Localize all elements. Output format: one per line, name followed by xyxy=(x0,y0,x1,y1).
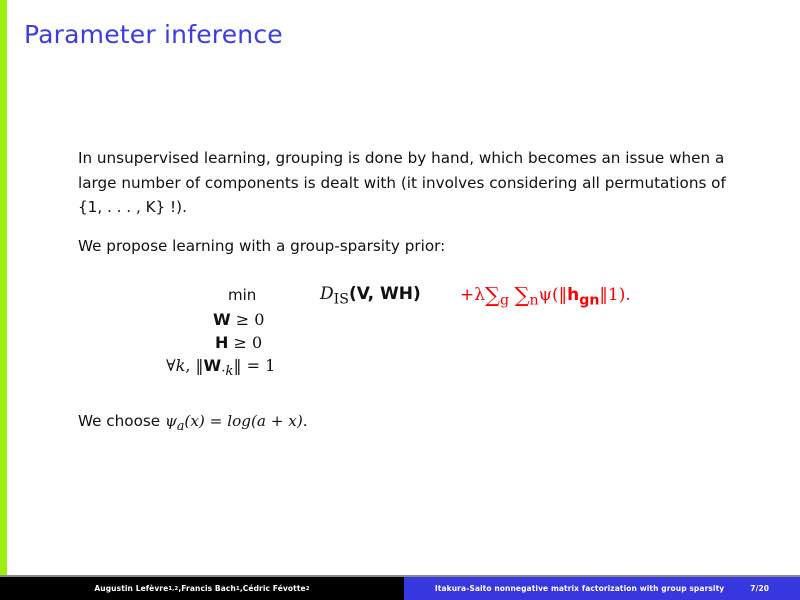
objective-subscript: IS xyxy=(334,291,349,307)
equation-constraint-norm: ∀k, ‖W·k‖ = 1 xyxy=(78,356,730,379)
penalty-sum-g-subscript: g xyxy=(500,292,509,308)
constraint-norm-tail: ‖ = 1 xyxy=(234,356,276,375)
footer-author-2: Francis Bach xyxy=(181,584,236,593)
penalty-sum-g: ∑ xyxy=(485,283,500,307)
constraint-index-k: k xyxy=(176,356,186,375)
body-paragraph-2: We propose learning with a group-sparsit… xyxy=(78,234,730,259)
equation-min-label: min xyxy=(228,286,256,304)
constraint-quantifier: ∀ xyxy=(166,356,176,375)
closing-sentence: We choose ψa(x) = log(a + x). xyxy=(78,412,308,433)
penalty-prefix: +λ xyxy=(460,285,485,305)
constraint-h-variable: H xyxy=(215,333,228,352)
penalty-sum-n: ∑ xyxy=(515,283,530,307)
constraint-w-relation: ≥ 0 xyxy=(236,310,265,329)
footer-author-3: Cédric Févotte xyxy=(243,584,306,593)
equation-penalty-term: +λ∑g ∑nψ(‖hgn‖1). xyxy=(460,283,631,308)
constraint-w-variable: W xyxy=(213,310,231,329)
body-paragraph-1: In unsupervised learning, grouping is do… xyxy=(78,146,730,220)
penalty-h-subscript: gn xyxy=(579,292,599,308)
footer-talk-title: Itakura-Saito nonnegative matrix factori… xyxy=(435,584,724,593)
footer-author-1: Augustin Lefèvre xyxy=(94,584,168,593)
equation-objective: DIS(V, WH) xyxy=(320,284,421,307)
closing-expression: (x) = log(a + x). xyxy=(184,412,307,430)
footer-bar: Augustin Lefèvre1,2, Francis Bach1, Cédr… xyxy=(0,577,800,600)
footer-info: Itakura-Saito nonnegative matrix factori… xyxy=(404,577,800,600)
constraint-h-relation: ≥ 0 xyxy=(233,333,262,352)
footer-author-3-affiliation: 2 xyxy=(306,586,310,592)
penalty-sum-n-subscript: n xyxy=(530,292,539,308)
footer-authors: Augustin Lefèvre1,2, Francis Bach1, Cédr… xyxy=(0,577,404,600)
page-title: Parameter inference xyxy=(24,20,283,49)
equation-block: min DIS(V, WH) +λ∑g ∑nψ(‖hgn‖1). W ≥ 0 H… xyxy=(78,284,730,379)
footer-author-1-affiliation: 1,2 xyxy=(168,586,178,592)
penalty-h-vector: h xyxy=(567,285,579,305)
objective-arguments: (V, WH) xyxy=(349,284,421,304)
footer-page-number: 7/20 xyxy=(750,584,769,593)
penalty-tail: ‖1). xyxy=(599,285,630,305)
constraint-w-column-variable: W xyxy=(204,356,222,375)
equation-constraint-h: H ≥ 0 xyxy=(78,333,730,356)
sidebar-accent-bar xyxy=(0,0,7,578)
closing-psi-symbol: ψ xyxy=(165,412,177,430)
closing-prefix: We choose xyxy=(78,412,165,430)
equation-main-row: min DIS(V, WH) +λ∑g ∑nψ(‖hgn‖1). xyxy=(78,284,730,310)
constraint-norm-open: , ‖ xyxy=(185,356,203,375)
objective-D-symbol: D xyxy=(320,284,334,304)
penalty-psi-open: ψ(‖ xyxy=(539,285,567,305)
slide-body: In unsupervised learning, grouping is do… xyxy=(78,146,730,259)
equation-constraint-w: W ≥ 0 xyxy=(78,310,730,333)
constraint-w-column-subscript: ·k xyxy=(221,364,233,379)
